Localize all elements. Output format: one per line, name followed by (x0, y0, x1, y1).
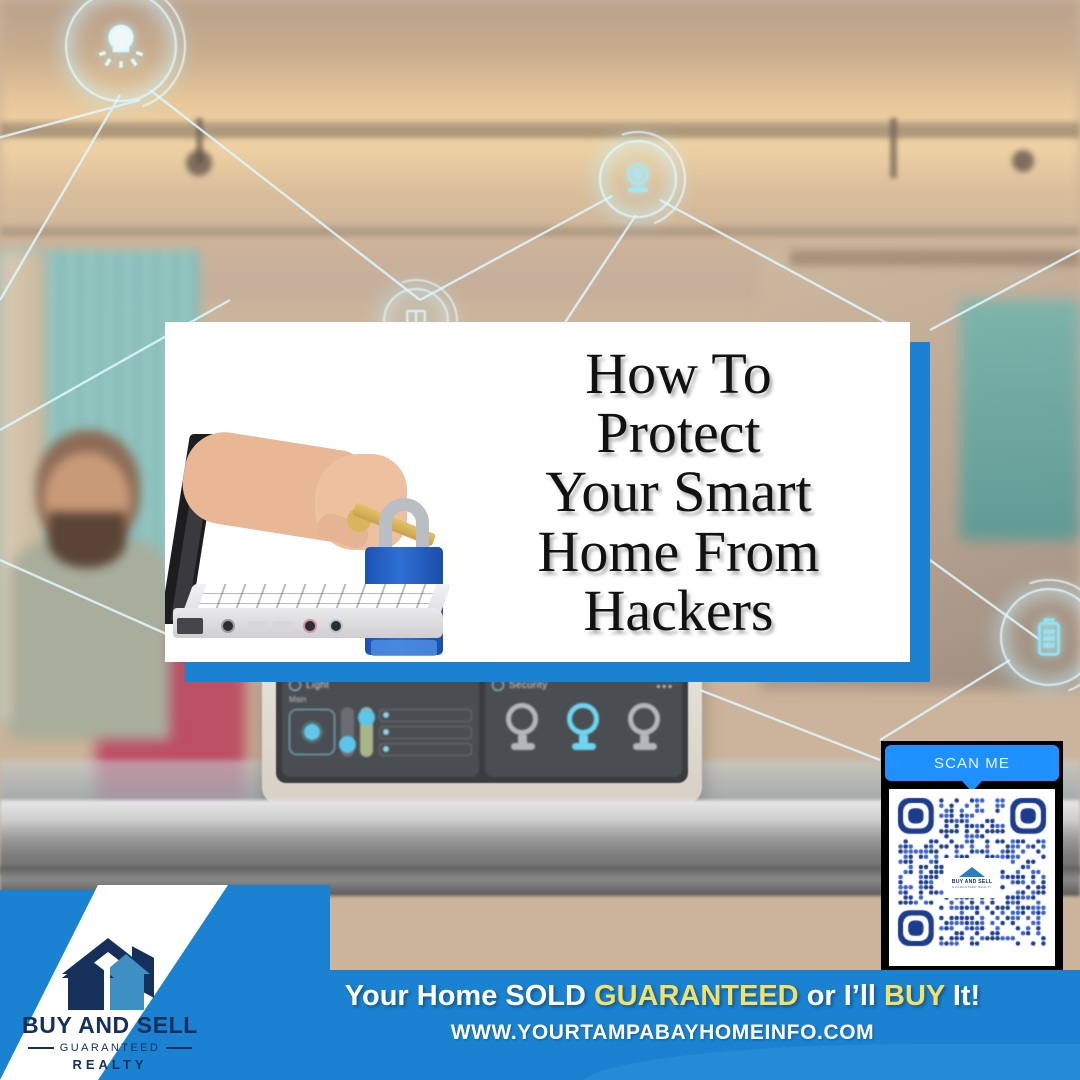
social-media-graphic: Light Main (0, 0, 1080, 1080)
scene-row (379, 726, 472, 739)
mic-jack (303, 619, 317, 633)
camera-icon (628, 703, 662, 749)
lightbulb-icon (95, 20, 147, 72)
teal-panel (960, 300, 1080, 540)
roof-icon (959, 867, 985, 877)
slider-knob (358, 709, 375, 726)
person-body (10, 540, 170, 740)
house-roof-icon (40, 936, 180, 1010)
page-title: How To Protect Your Smart Home From Hack… (538, 344, 820, 640)
overflow-menu-icon: ••• (656, 681, 674, 693)
shelf (790, 250, 1080, 266)
tagline-part: It! (945, 980, 980, 1012)
logo-subtitle-2: REALTY (14, 1057, 206, 1072)
headphone-jack (329, 619, 343, 633)
headline-card: How To Protect Your Smart Home From Hack… (165, 322, 910, 662)
scene-dot (383, 746, 389, 752)
headline-line: Home From (538, 522, 820, 581)
scene-rows (379, 709, 472, 756)
person-beard (48, 512, 126, 568)
ceiling-beam (0, 122, 1080, 138)
dimmer-slider-1 (341, 707, 354, 757)
slider-knob (339, 736, 356, 753)
tagline-part-highlight: GUARANTEED (594, 980, 799, 1012)
sun-icon (304, 724, 320, 740)
padlock-base (371, 640, 437, 656)
light-panel: Light Main (282, 674, 479, 777)
pendant-lamp-head (186, 150, 212, 176)
qr-center-logo: BUY AND SELL GUARANTEED REALTY (944, 858, 1000, 898)
headline-line: Protect (538, 403, 820, 462)
headline-line: Your Smart (538, 462, 820, 521)
qr-panel[interactable]: SCAN ME BUY AND SELL GUARANTEED REALTY (881, 741, 1063, 974)
camera-list (492, 695, 675, 757)
security-panel: Security ••• (485, 674, 682, 777)
logo-name: BUY AND SELL (14, 1014, 206, 1037)
pendant-lamp-cord (890, 118, 897, 178)
headline-line: Hackers (538, 581, 820, 640)
tagline-part: Your Home SOLD (345, 980, 594, 1012)
camera-icon-active (567, 703, 601, 749)
light-controls (289, 707, 472, 757)
banner-text: Your Home SOLD GUARANTEED or I’ll BUY It… (255, 980, 1070, 1045)
tagline-part-highlight: BUY (884, 980, 945, 1012)
dimmer-slider-2 (360, 707, 373, 757)
laptop-ports (177, 618, 327, 636)
scene-dot (383, 712, 389, 718)
lightbulb-node (65, 0, 177, 102)
light-main-label: Main (289, 695, 472, 704)
camera-node (599, 140, 677, 218)
rule-right (166, 1047, 192, 1049)
scene-row (379, 709, 472, 722)
scan-me-badge: SCAN ME (885, 745, 1059, 781)
brightness-icon-box (289, 709, 335, 755)
power-jack (221, 619, 235, 633)
qr-code[interactable]: BUY AND SELL GUARANTEED REALTY (889, 789, 1055, 966)
hero-illustration (165, 322, 465, 662)
usb-port (247, 621, 267, 632)
website-url[interactable]: WWW.YOURTAMPABAYHOMEINFO.COM (255, 1021, 1070, 1045)
camera-icon (506, 703, 540, 749)
headline-text-area: How To Protect Your Smart Home From Hack… (465, 322, 910, 662)
rule-left (28, 1047, 54, 1049)
tagline-part: or I’ll (799, 980, 884, 1012)
headline-line: How To (538, 344, 820, 403)
usb-port (273, 621, 293, 632)
ceiling-beam (0, 226, 1080, 236)
logo-subtitle-row: GUARANTEED (14, 1042, 206, 1054)
brand-logo: BUY AND SELL GUARANTEED REALTY (14, 936, 206, 1072)
banner-swoosh (580, 1044, 1080, 1080)
scene-row (379, 743, 472, 756)
camera-icon (619, 160, 657, 198)
ethernet-port (177, 618, 203, 634)
battery-node (1000, 588, 1080, 686)
scan-me-label: SCAN ME (934, 755, 1010, 772)
battery-icon (1026, 614, 1072, 660)
pendant-lamp-head (1012, 150, 1034, 172)
logo-subtitle: GUARANTEED (60, 1042, 160, 1054)
qr-logo-sub: GUARANTEED REALTY (952, 885, 992, 889)
tagline: Your Home SOLD GUARANTEED or I’ll BUY It… (255, 980, 1070, 1013)
scene-dot (383, 729, 389, 735)
tablet-screen: Light Main (276, 668, 688, 783)
